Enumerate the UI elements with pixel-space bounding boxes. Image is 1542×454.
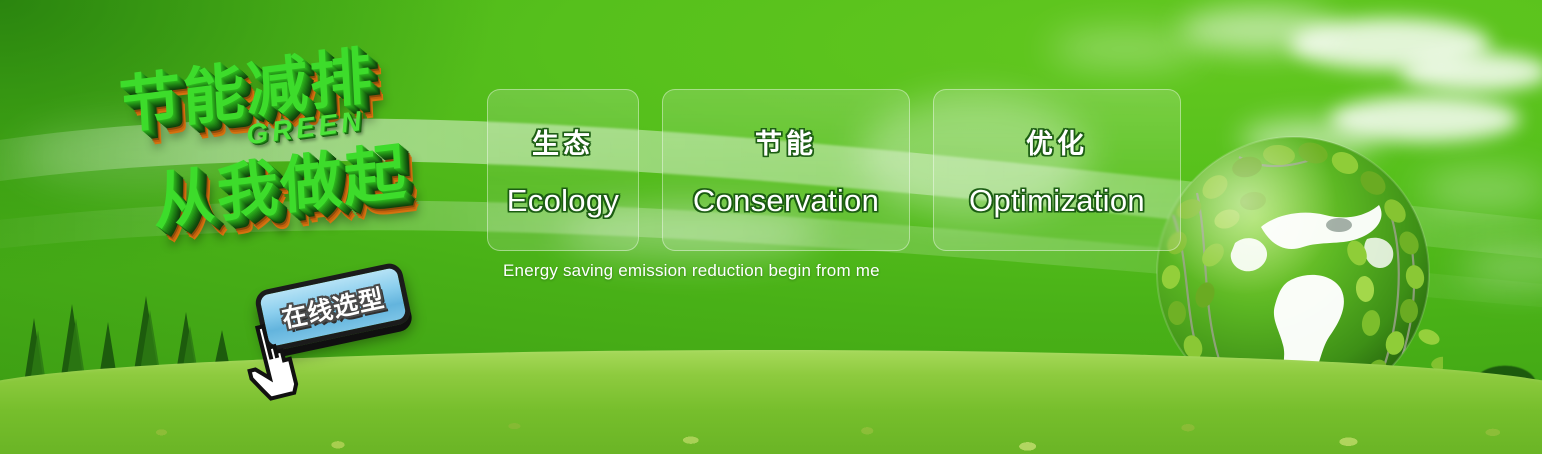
- feature-card-ecology[interactable]: 生态 Ecology: [487, 89, 639, 251]
- feature-card-title-cn: 节能: [755, 122, 817, 161]
- feature-card-title-cn: 优化: [1026, 122, 1088, 161]
- feature-card-title-cn: 生态: [532, 122, 594, 161]
- eco-promo-banner: 节能减排 GREEN 从我做起 生态 Ecology 节能 Conservati…: [0, 0, 1542, 454]
- feature-card-title-en: Ecology: [507, 183, 619, 219]
- title-line-2: 从我做起: [151, 120, 410, 241]
- ground-leaves-icon: [0, 384, 1542, 454]
- feature-card-title-en: Optimization: [969, 183, 1145, 219]
- feature-card-list: 生态 Ecology 节能 Conservation 优化 Optimizati…: [487, 89, 1181, 251]
- feature-card-conservation[interactable]: 节能 Conservation: [662, 89, 910, 251]
- grass-field-icon: [0, 350, 1542, 454]
- banner-tagline: Energy saving emission reduction begin f…: [503, 261, 880, 281]
- pointing-hand-cursor-icon: [236, 318, 318, 404]
- feature-card-optimization[interactable]: 优化 Optimization: [933, 89, 1181, 251]
- main-title-art: 节能减排 GREEN 从我做起: [96, 36, 496, 276]
- cloud-icon: [1180, 8, 1340, 52]
- feature-card-title-en: Conservation: [693, 183, 879, 219]
- cloud-icon: [1400, 52, 1542, 92]
- cloud-icon: [1050, 30, 1200, 68]
